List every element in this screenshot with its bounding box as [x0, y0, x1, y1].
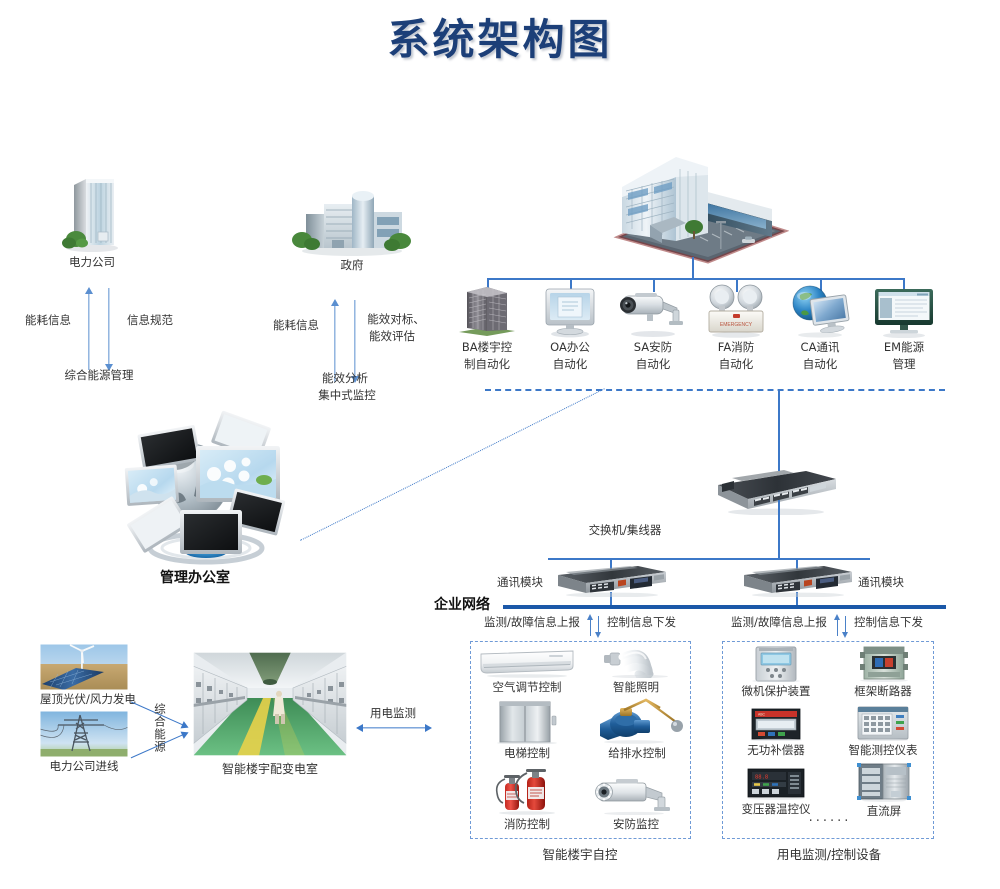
monitor-icon — [536, 286, 604, 338]
ba-item-elevator[interactable]: 电梯控制 — [486, 700, 568, 761]
source-solar-wind: 屋顶光伏/风力发电 — [40, 644, 128, 707]
pd-item-circuit-breaker[interactable]: 框架断路器 — [838, 644, 928, 699]
ba-item-security-monitoring[interactable]: 安防监控 — [590, 775, 682, 832]
arrow-down-info-spec-left — [104, 288, 114, 370]
ba-item-air-conditioner[interactable]: 空气调节控制 — [477, 648, 577, 695]
integrated-energy-flow-label: 综合能源 — [152, 703, 167, 753]
node-power-company: 电力公司 — [46, 175, 138, 270]
subsystem-fa-line1: FA消防 — [702, 340, 770, 355]
subsystem-ba[interactable]: BA楼宇控 制自动化 — [453, 284, 521, 372]
ba-item-water-supply[interactable]: 给排水控制 — [590, 696, 684, 761]
subsystem-em[interactable]: EM能源 管理 — [869, 286, 939, 372]
arrow-power-monitoring — [357, 722, 431, 734]
substation-label: 智能楼宇配变电室 — [193, 762, 347, 777]
pd-item-dc-panel[interactable]: 直流屏 — [845, 762, 923, 819]
subsystem-sa-line1: SA安防 — [617, 340, 689, 355]
node-government: 政府 — [288, 186, 416, 273]
label-info-spec-left: 信息规范 — [127, 313, 173, 328]
communication-module-icon — [556, 565, 668, 597]
smart-building-icon — [604, 145, 789, 265]
enterprise-network-label: 企业网络 — [434, 598, 490, 613]
green-monitor-icon — [869, 286, 939, 338]
ba-item-security-monitoring-label: 安防监控 — [590, 817, 682, 832]
subsystem-sa[interactable]: SA安防 自动化 — [617, 288, 689, 372]
subsystem-ba-line1: BA楼宇控 — [453, 340, 521, 355]
pd-item-smart-meter-label: 智能测控仪表 — [836, 743, 930, 758]
subsystem-em-line1: EM能源 — [869, 340, 939, 355]
power-company-label: 电力公司 — [46, 255, 138, 270]
label-energy-info-left: 能耗信息 — [25, 313, 71, 328]
arrow-pair-left — [588, 616, 602, 636]
air-conditioner-icon — [477, 648, 577, 678]
label-centralized-monitoring: 集中式监控 — [318, 388, 376, 403]
solar-wind-photo-icon — [40, 644, 128, 690]
enterprise-network-bus — [503, 605, 946, 609]
dc-panel-icon — [845, 762, 923, 802]
highrise-icon — [453, 284, 521, 338]
label-energy-info-mid: 能耗信息 — [273, 318, 319, 333]
subsystem-ca[interactable]: CA通讯 自动化 — [786, 283, 854, 372]
comm-module-left-label: 通讯模块 — [497, 575, 543, 590]
subsystem-fa-line2: 自动化 — [702, 357, 770, 372]
pd-item-dc-panel-label: 直流屏 — [845, 804, 923, 819]
label-integrated-energy-management: 综合能源管理 — [65, 368, 134, 383]
power-devices-ellipsis: ······ — [809, 814, 852, 829]
monitor-cluster-globe-icon — [118, 408, 298, 568]
uplink-label-right: 监测/故障信息上报 — [731, 615, 827, 630]
power-devices-caption: 用电监测/控制设备 — [777, 847, 881, 862]
svg-text:88.8: 88.8 — [755, 775, 768, 781]
subsystem-ba-line2: 制自动化 — [453, 357, 521, 372]
switch-label: 交换机/集线器 — [589, 523, 662, 538]
circuit-breaker-icon — [838, 644, 928, 682]
building-to-bus-link — [692, 257, 694, 279]
source-solar-wind-label: 屋顶光伏/风力发电 — [40, 692, 128, 707]
label-energy-analysis: 能效分析 — [322, 371, 368, 386]
pd-item-reactive-compensator[interactable]: ABC 无功补偿器 — [728, 707, 824, 758]
svg-text:ABC: ABC — [758, 712, 766, 716]
ba-item-fire-control-label: 消防控制 — [483, 817, 571, 832]
comm-module-bus — [548, 558, 870, 560]
smart-meter-icon — [836, 705, 930, 741]
globe-monitor-icon — [786, 283, 854, 338]
fire-extinguisher-icon — [483, 769, 571, 815]
substation-node: 智能楼宇配变电室 — [193, 652, 347, 777]
substation-corridor-photo-icon — [193, 652, 347, 756]
pd-item-circuit-breaker-label: 框架断路器 — [838, 684, 928, 699]
diagram-canvas: 系统架构图 — [0, 0, 1000, 889]
switch-uplink-line — [778, 389, 780, 471]
security-camera-icon — [590, 775, 682, 815]
pd-item-smart-meter[interactable]: 智能测控仪表 — [836, 705, 930, 758]
arrow-up-energy-info-mid — [330, 300, 340, 382]
transmission-tower-photo-icon — [40, 711, 128, 757]
communication-module-icon — [742, 565, 854, 597]
government-label: 政府 — [288, 258, 416, 273]
government-building-icon — [288, 186, 416, 256]
subsystem-oa-line2: 自动化 — [536, 357, 604, 372]
label-energy-benchmark-line1: 能效对标、 — [367, 312, 425, 327]
pd-item-protection-relay-label: 微机保护装置 — [728, 684, 824, 699]
arrow-pair-right — [835, 616, 849, 636]
subsystem-ca-line2: 自动化 — [786, 357, 854, 372]
office-to-subsystem-link — [300, 388, 605, 541]
arrow-down-energy-benchmark-mid — [350, 300, 360, 382]
protection-relay-icon — [728, 646, 824, 682]
pd-item-reactive-compensator-label: 无功补偿器 — [728, 743, 824, 758]
subsystem-oa[interactable]: OA办公 自动化 — [536, 286, 604, 372]
label-energy-benchmark-line2: 能效评估 — [369, 329, 415, 344]
management-office-label: 管理办公室 — [160, 571, 230, 586]
svg-text:EMERGENCY: EMERGENCY — [720, 322, 753, 328]
office-tower-icon — [46, 175, 138, 253]
downlink-label-right: 控制信息下发 — [854, 615, 923, 630]
arrow-up-energy-info-left — [84, 288, 94, 370]
pd-item-protection-relay[interactable]: 微机保护装置 — [728, 646, 824, 699]
subsystem-oa-line1: OA办公 — [536, 340, 604, 355]
reactive-compensator-icon: ABC — [728, 707, 824, 741]
ba-item-elevator-label: 电梯控制 — [486, 746, 568, 761]
subsystem-top-bus — [487, 278, 904, 280]
pd-item-transformer-temp[interactable]: 88.8 变压器温控仪 — [728, 766, 824, 817]
subsystem-fa[interactable]: EMERGENCY FA消防 自动化 — [702, 284, 770, 372]
ba-item-water-supply-label: 给排水控制 — [590, 746, 684, 761]
ba-item-fire-control[interactable]: 消防控制 — [483, 769, 571, 832]
subsystem-dashed-bus — [485, 389, 945, 391]
switch-downlink-line — [778, 500, 780, 559]
subsystem-sa-line2: 自动化 — [617, 357, 689, 372]
cctv-camera-icon — [617, 288, 689, 338]
subsystem-em-line2: 管理 — [869, 357, 939, 372]
elevator-icon — [486, 700, 568, 744]
source-utility-line: 电力公司进线 — [40, 711, 128, 774]
cfl-bulb-icon — [588, 645, 684, 678]
ba-item-lighting-label: 智能照明 — [588, 680, 684, 695]
source-utility-line-label: 电力公司进线 — [40, 759, 128, 774]
subsystem-ca-line1: CA通讯 — [786, 340, 854, 355]
downlink-label-left: 控制信息下发 — [607, 615, 676, 630]
emergency-light-icon: EMERGENCY — [702, 284, 770, 338]
comm-module-right-label: 通讯模块 — [858, 575, 904, 590]
power-monitoring-label: 用电监测 — [370, 706, 416, 721]
uplink-label-left: 监测/故障信息上报 — [484, 615, 580, 630]
ba-item-air-conditioner-label: 空气调节控制 — [477, 680, 577, 695]
water-valve-icon — [590, 696, 684, 744]
building-automation-caption: 智能楼宇自控 — [542, 847, 617, 862]
transformer-temp-icon: 88.8 — [728, 766, 824, 800]
ba-item-lighting[interactable]: 智能照明 — [588, 645, 684, 695]
page-title: 系统架构图 — [0, 6, 1000, 67]
network-switch-icon — [714, 469, 838, 515]
